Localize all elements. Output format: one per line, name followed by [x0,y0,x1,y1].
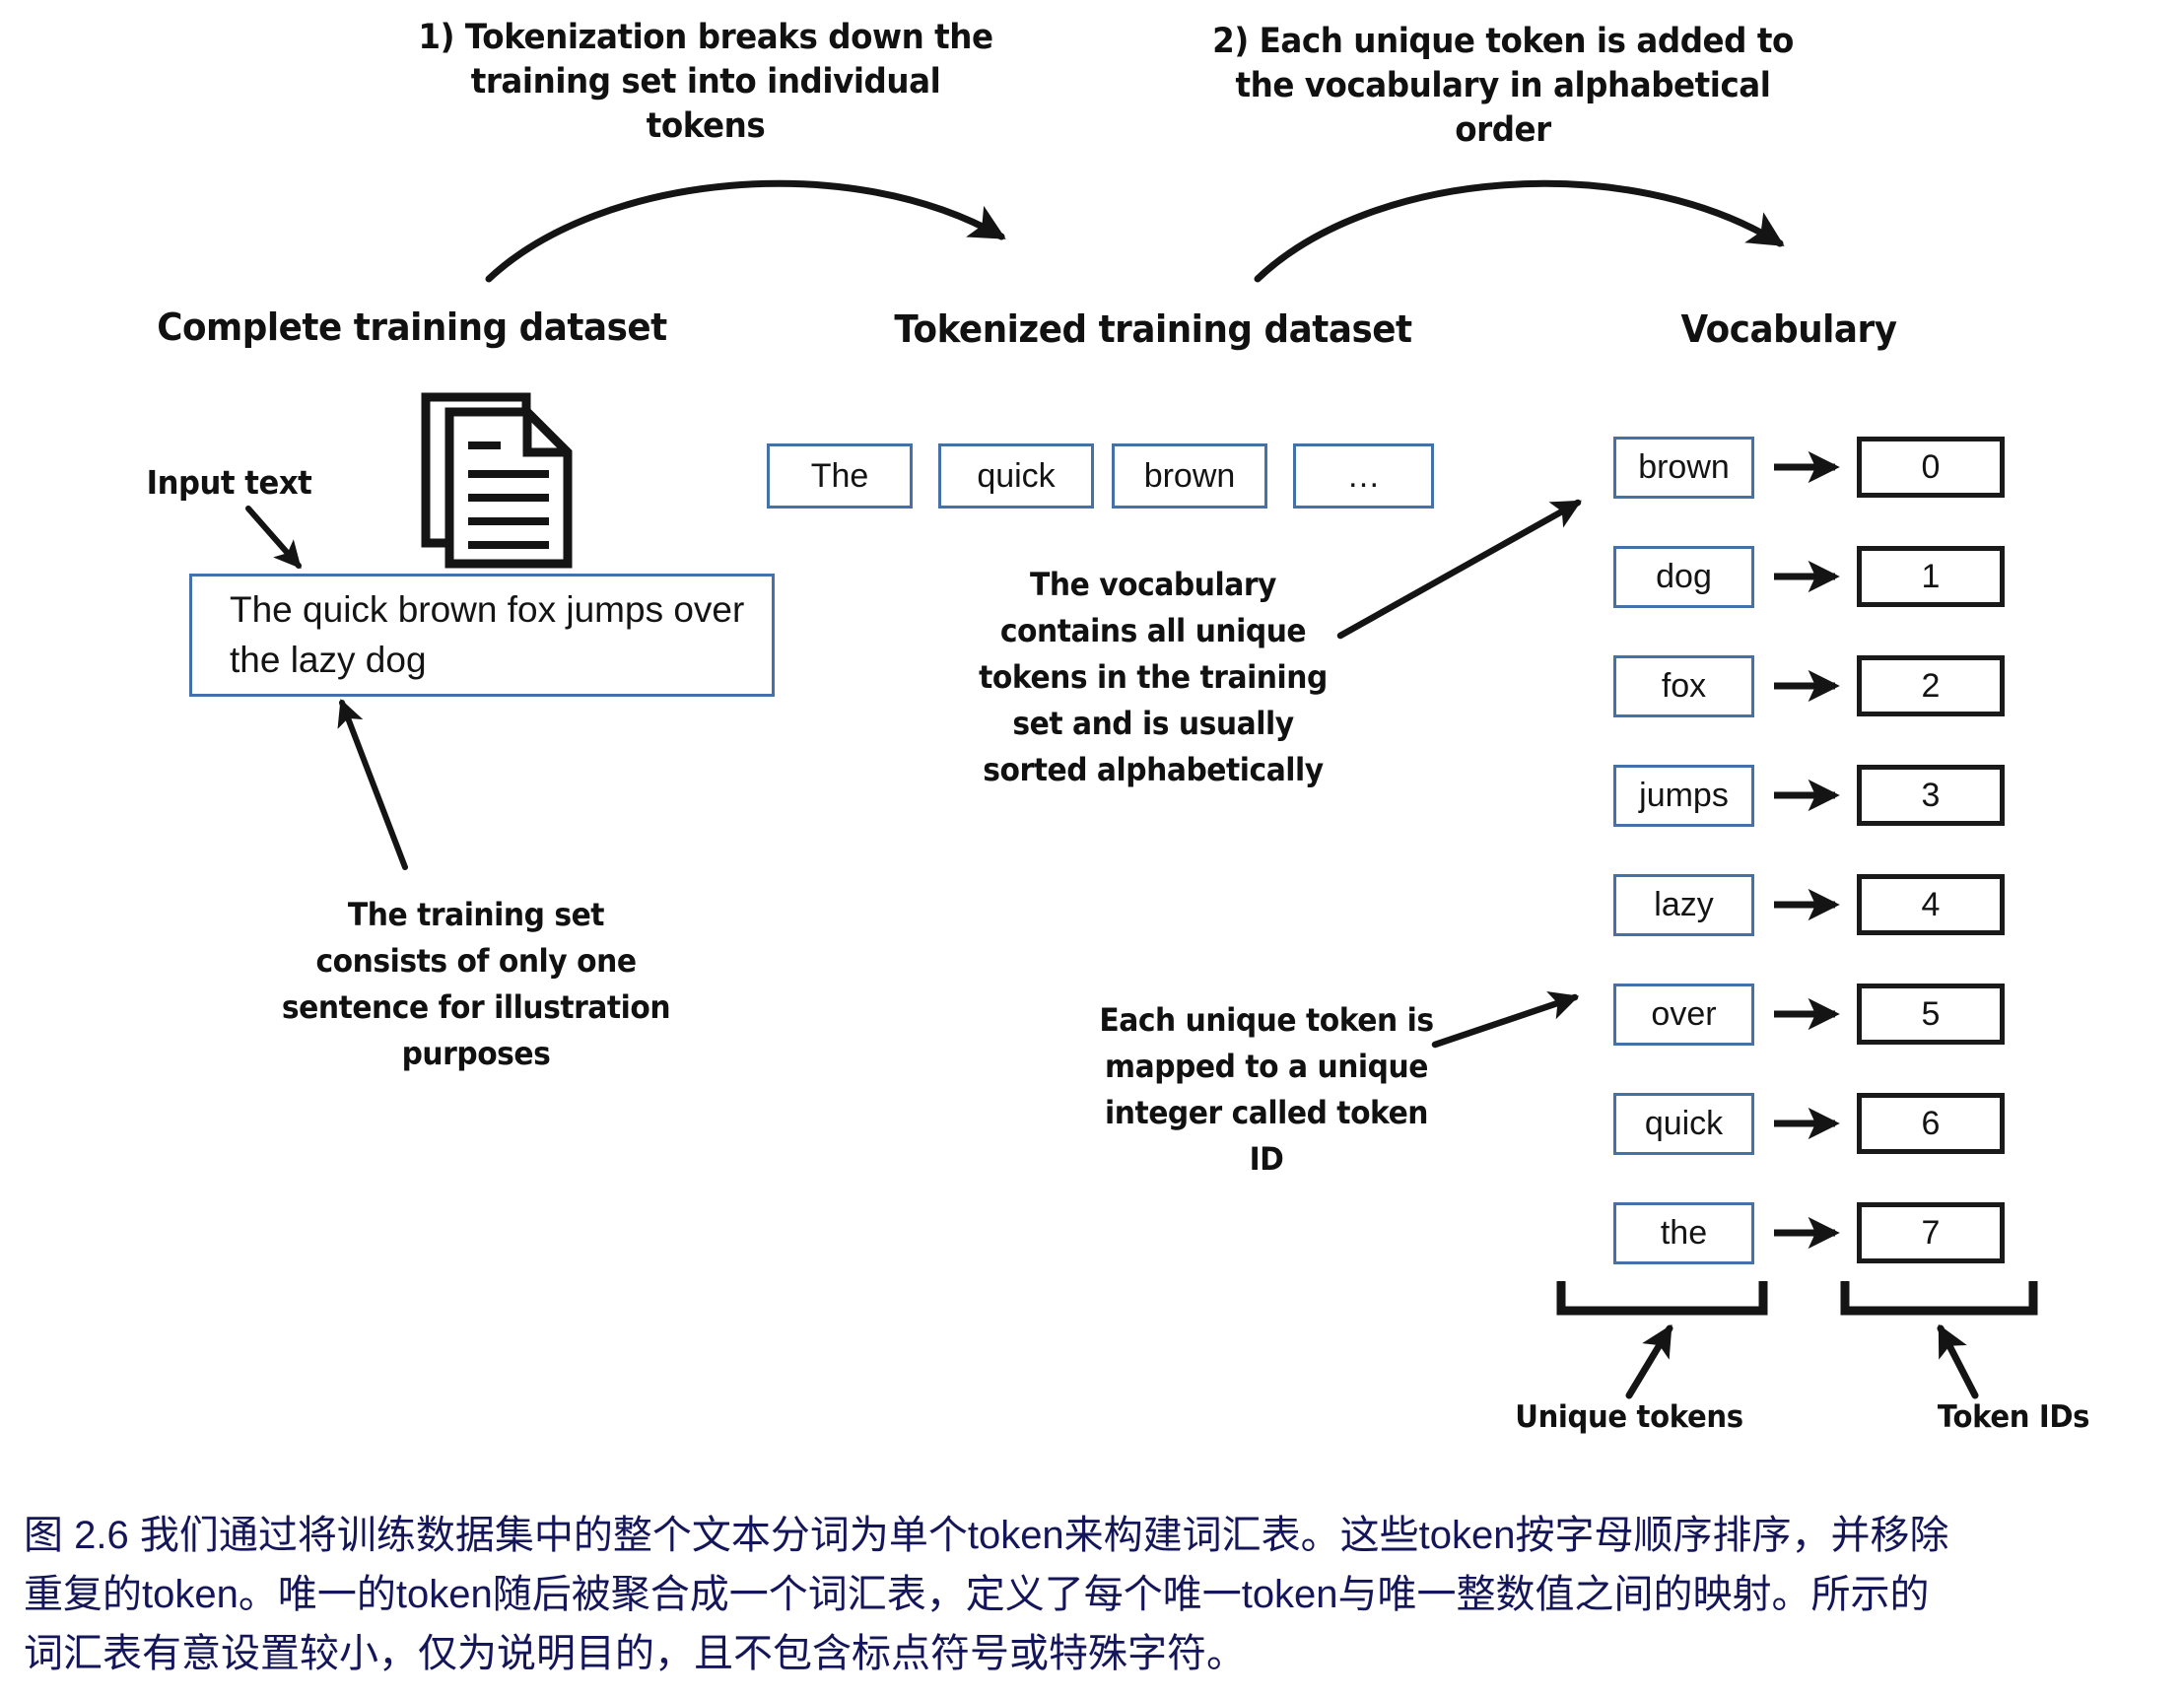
token-ids-pointer-arrow [1941,1328,1975,1395]
column-title-tokenized-training-dataset: Tokenized training dataset [838,307,1467,351]
vocab-token-3: jumps [1613,765,1754,827]
training-set-note: The training set consists of only one se… [279,892,673,1077]
input-text-label: Input text [107,459,350,507]
vocab-id-2: 2 [1857,655,2005,716]
unique-tokens-pointer-arrow [1629,1328,1670,1395]
vocab-token-2: fox [1613,655,1754,717]
vocab-id-3: 3 [1857,765,2005,826]
vocab-token-4: lazy [1613,874,1754,936]
token-box-ellipsis: … [1293,443,1434,509]
vocab-id-1: 1 [1857,546,2005,607]
document-stack-icon [426,397,568,564]
token-ids-brace-label: Token IDs [1907,1399,2120,1435]
vocab-token-0: brown [1613,437,1754,499]
caption-line-3: 词汇表有意设置较小，仅为说明目的，且不包含标点符号或特殊字符。 [24,1624,2172,1683]
vocabulary-explanation-note: The vocabulary contains all unique token… [970,562,1336,793]
vocab-token-6: quick [1613,1093,1754,1155]
figure-caption: 图 2.6 我们通过将训练数据集中的整个文本分词为单个token来构建词汇表。这… [24,1506,2172,1683]
token-box-2: brown [1112,443,1267,509]
vocabulary-mapping-arrows [1774,467,1835,1233]
curved-arrow-step1 [489,183,1001,279]
input-text-box: The quick brown fox jumps over the lazy … [189,574,775,697]
vocab-id-6: 6 [1857,1093,2005,1154]
token-box-0: The [767,443,913,509]
input-text-pointer-arrow [248,509,299,566]
figure-canvas: 1) Tokenization breaks down the training… [0,0,2184,1697]
vocab-id-5: 5 [1857,984,2005,1045]
curved-arrow-step2 [1258,183,1780,279]
figure-vector-layer [0,0,2184,1697]
vocab-token-5: over [1613,984,1754,1046]
vocab-id-7: 7 [1857,1202,2005,1263]
token-box-1: quick [938,443,1094,509]
token-ids-brace [1845,1281,2033,1311]
step-1-heading: 1) Tokenization breaks down the training… [412,16,998,148]
training-note-arrow [342,703,405,867]
token-id-note-arrow [1435,997,1575,1045]
vocab-id-0: 0 [1857,437,2005,498]
caption-line-1: 图 2.6 我们通过将训练数据集中的整个文本分词为单个token来构建词汇表。这… [24,1506,2172,1565]
vocab-token-1: dog [1613,546,1754,608]
caption-line-2: 重复的token。唯一的token随后被聚合成一个词汇表，定义了每个唯一toke… [24,1565,2172,1624]
unique-tokens-brace-label: Unique tokens [1490,1399,1768,1435]
vocab-token-7: the [1613,1202,1754,1264]
vocabulary-note-arrow [1340,503,1578,636]
unique-tokens-brace [1561,1281,1763,1311]
column-title-complete-training-dataset: Complete training dataset [106,305,717,349]
vocab-id-4: 4 [1857,874,2005,935]
column-title-vocabulary: Vocabulary [1566,307,2011,351]
token-id-explanation-note: Each unique token is mapped to a unique … [1088,997,1446,1183]
step-2-heading: 2) Each unique token is added to the voc… [1209,20,1796,152]
